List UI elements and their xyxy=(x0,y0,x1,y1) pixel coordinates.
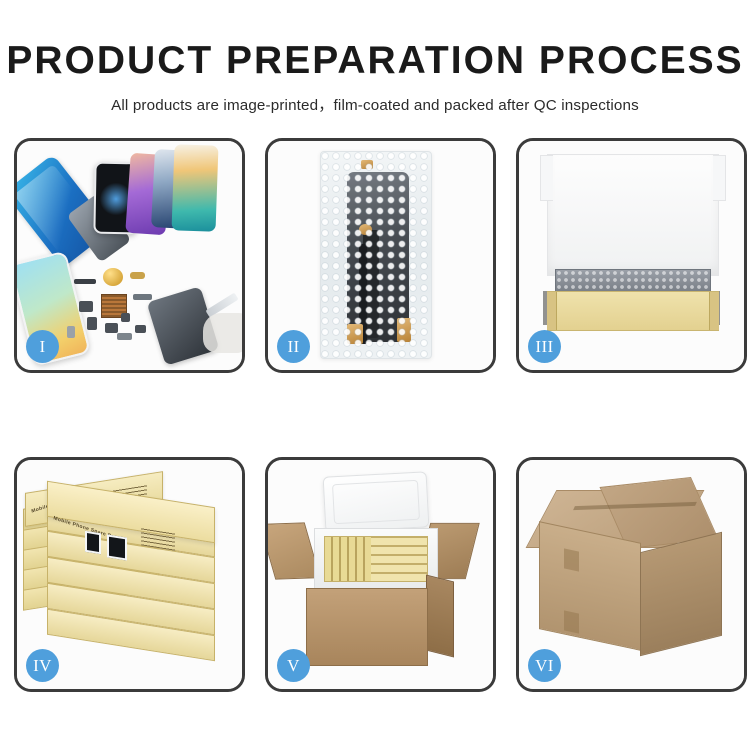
step-numeral-1: I xyxy=(39,338,45,355)
hand-icon xyxy=(203,313,242,353)
page-title: PRODUCT PREPARATION PROCESS xyxy=(0,40,750,82)
step-badge-1: I xyxy=(26,330,59,363)
flex-cable-part-icon xyxy=(133,294,152,300)
steps-grid: I II xyxy=(14,138,736,692)
step-numeral-6: VI xyxy=(535,657,554,674)
step-panel-3: III xyxy=(516,138,747,373)
step-panel-2: II xyxy=(265,138,496,373)
small-part-4-icon xyxy=(121,313,130,322)
phone-teal-icon xyxy=(172,144,219,231)
small-part-7-icon xyxy=(117,333,132,340)
step-badge-4: IV xyxy=(26,649,59,682)
connector-part-icon xyxy=(74,279,96,284)
stacked-trays-icon xyxy=(324,536,428,582)
product-preparation-infographic: PRODUCT PREPARATION PROCESS All products… xyxy=(0,0,750,750)
bubble-texture-icon xyxy=(321,152,431,358)
box-window-3-icon xyxy=(85,531,101,555)
gold-flex-part-icon xyxy=(130,272,145,279)
box-lid-icon xyxy=(547,154,719,276)
kraft-box-body-icon xyxy=(547,291,719,331)
gold-component-icon xyxy=(103,268,123,286)
step-panel-4: Mobile Phone Spare Parts Mobile Phone Sp… xyxy=(14,457,245,692)
step-panel-5: V xyxy=(265,457,496,692)
step-panel-6: VI xyxy=(516,457,747,692)
sealed-carton-front-icon xyxy=(539,521,641,651)
sealed-carton-side-icon xyxy=(640,532,722,656)
step-numeral-4: IV xyxy=(33,657,52,674)
carton-tape-2-icon xyxy=(564,610,579,633)
bubble-wrap-bag-icon xyxy=(320,151,432,359)
foam-cooler-lid-icon xyxy=(323,471,430,532)
step-panel-1: I xyxy=(14,138,245,373)
carton-body-icon xyxy=(306,588,428,666)
small-part-3-icon xyxy=(105,323,118,333)
carton-tape-1-icon xyxy=(564,548,579,571)
small-part-6-icon xyxy=(135,325,146,333)
step-numeral-5: V xyxy=(287,657,300,674)
small-part-5-icon xyxy=(67,326,75,338)
step-badge-2: II xyxy=(277,330,310,363)
small-part-2-icon xyxy=(87,317,97,330)
step-badge-6: VI xyxy=(528,649,561,682)
carton-side-icon xyxy=(426,575,454,658)
step-numeral-2: II xyxy=(287,338,299,355)
foam-lining-icon xyxy=(555,269,711,293)
step-badge-3: III xyxy=(528,330,561,363)
step-badge-5: V xyxy=(277,649,310,682)
page-subtitle: All products are image-printed，film-coat… xyxy=(0,93,750,115)
box-window-4-icon xyxy=(107,534,127,560)
step-numeral-3: III xyxy=(535,338,553,355)
header: PRODUCT PREPARATION PROCESS All products… xyxy=(0,0,750,115)
carton-flap-left-icon xyxy=(268,522,321,579)
small-part-1-icon xyxy=(79,301,93,312)
